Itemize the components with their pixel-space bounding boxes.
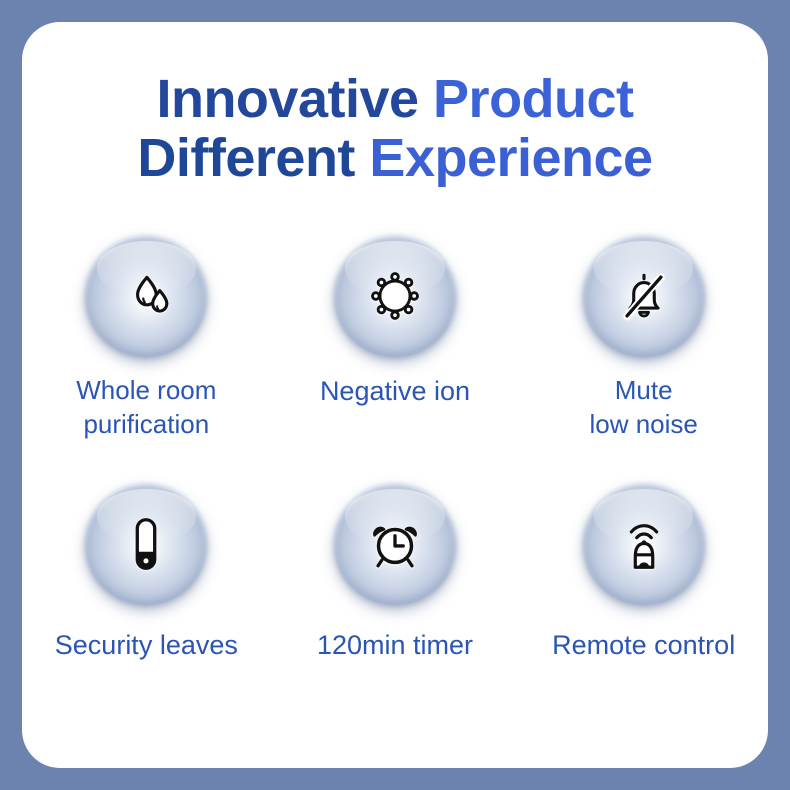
page-title: Innovative Product Different Experience [22,70,768,189]
bladeless-fan-icon [115,513,177,575]
remote-control-icon [613,513,675,575]
bell-muted-icon [613,265,675,327]
feature-label: Remote control [552,628,735,663]
feature-icon-badge [582,482,706,606]
content-card: Innovative Product Different Experience [22,22,768,768]
feature-grid: Whole room purification [22,234,768,730]
headline-line-1: Innovative Product [22,70,768,129]
feature-icon-badge [582,234,706,358]
alarm-clock-icon [364,513,426,575]
headline-word-different: Different [137,128,369,188]
feature-icon-badge [84,234,208,358]
feature-icon-badge [333,482,457,606]
feature-icon-badge [333,234,457,358]
feature-label: Mute low noise [589,374,697,442]
feature-label: Negative ion [320,374,470,409]
headline-word-innovative: Innovative [156,69,433,129]
feature-label: Whole room purification [76,374,216,442]
feature-item-timer[interactable]: 120min timer [271,482,520,730]
feature-label: Security leaves [55,628,238,663]
feature-icon-badge [84,482,208,606]
feature-item-mute-low-noise[interactable]: Mute low noise [519,234,768,482]
feature-item-security-leaves[interactable]: Security leaves [22,482,271,730]
headline-word-experience: Experience [369,128,652,188]
promo-banner: Innovative Product Different Experience [0,0,790,790]
feature-item-whole-room-purification[interactable]: Whole room purification [22,234,271,482]
feature-item-negative-ion[interactable]: Negative ion [271,234,520,482]
headline-line-2: Different Experience [22,129,768,188]
feature-label: 120min timer [317,628,473,663]
negative-ion-icon [364,265,426,327]
feature-item-remote-control[interactable]: Remote control [519,482,768,730]
water-drops-icon [115,265,177,327]
headline-word-product: Product [433,69,634,129]
